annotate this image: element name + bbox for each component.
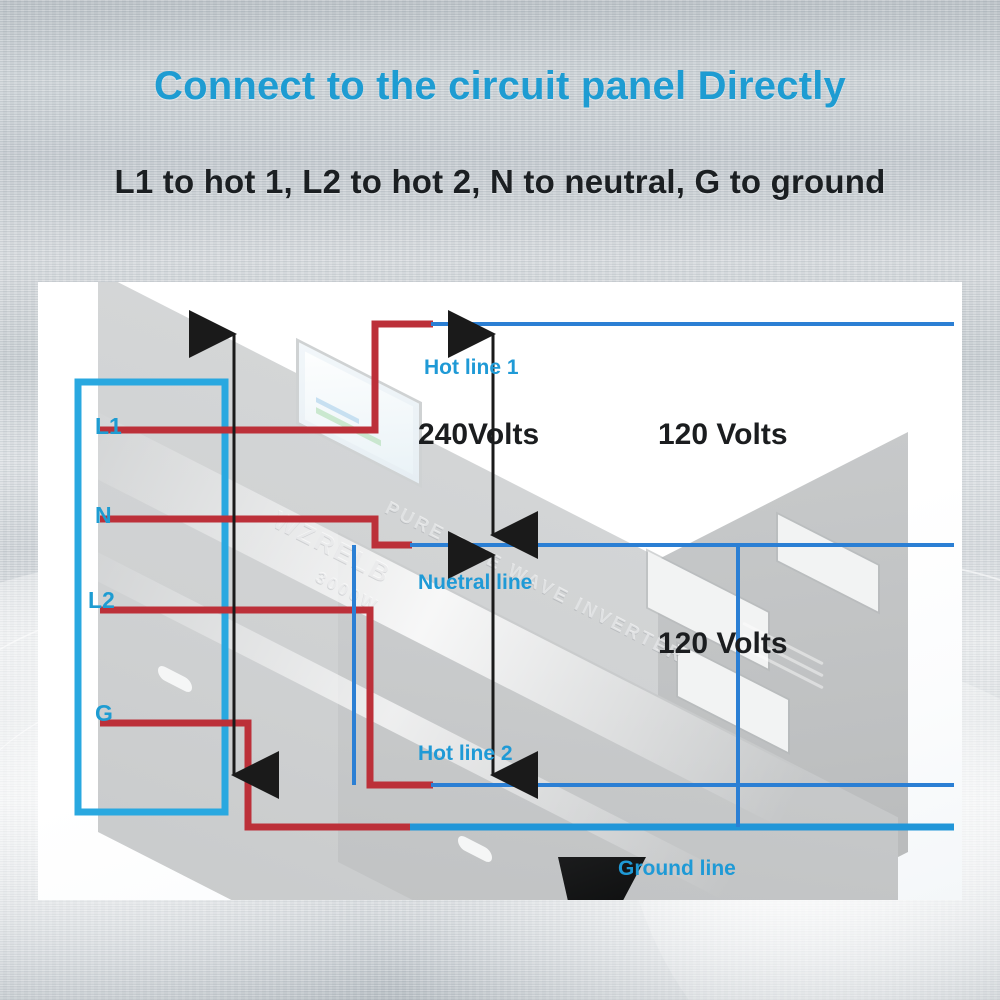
voltage-label-120v-bottom: 120 Volts: [658, 627, 788, 661]
terminal-label-l1: L1: [95, 413, 122, 440]
voltage-label-240v: 240Volts: [418, 418, 539, 452]
wire-n: [100, 519, 412, 545]
line-label-hot-1: Hot line 1: [424, 356, 519, 380]
screenshot-root: Connect to the circuit panel Directly L1…: [0, 0, 1000, 1000]
page-title: Connect to the circuit panel Directly: [0, 64, 1000, 109]
terminal-label-n: N: [95, 502, 112, 529]
wire-l2: [100, 610, 433, 785]
page-subtitle: L1 to hot 1, L2 to hot 2, N to neutral, …: [0, 163, 1000, 201]
line-label-ground: Ground line: [618, 857, 736, 881]
voltage-label-120v-top: 120 Volts: [658, 418, 788, 452]
line-label-neutral: Nuetral line: [418, 571, 532, 595]
diagram-panel: WZRELB PURE SINE WAVE INVERTER 3000W: [38, 282, 962, 900]
terminal-label-g: G: [95, 700, 113, 727]
line-label-hot-2: Hot line 2: [418, 742, 513, 766]
terminal-label-l2: L2: [88, 587, 115, 614]
wire-l1: [100, 324, 433, 430]
